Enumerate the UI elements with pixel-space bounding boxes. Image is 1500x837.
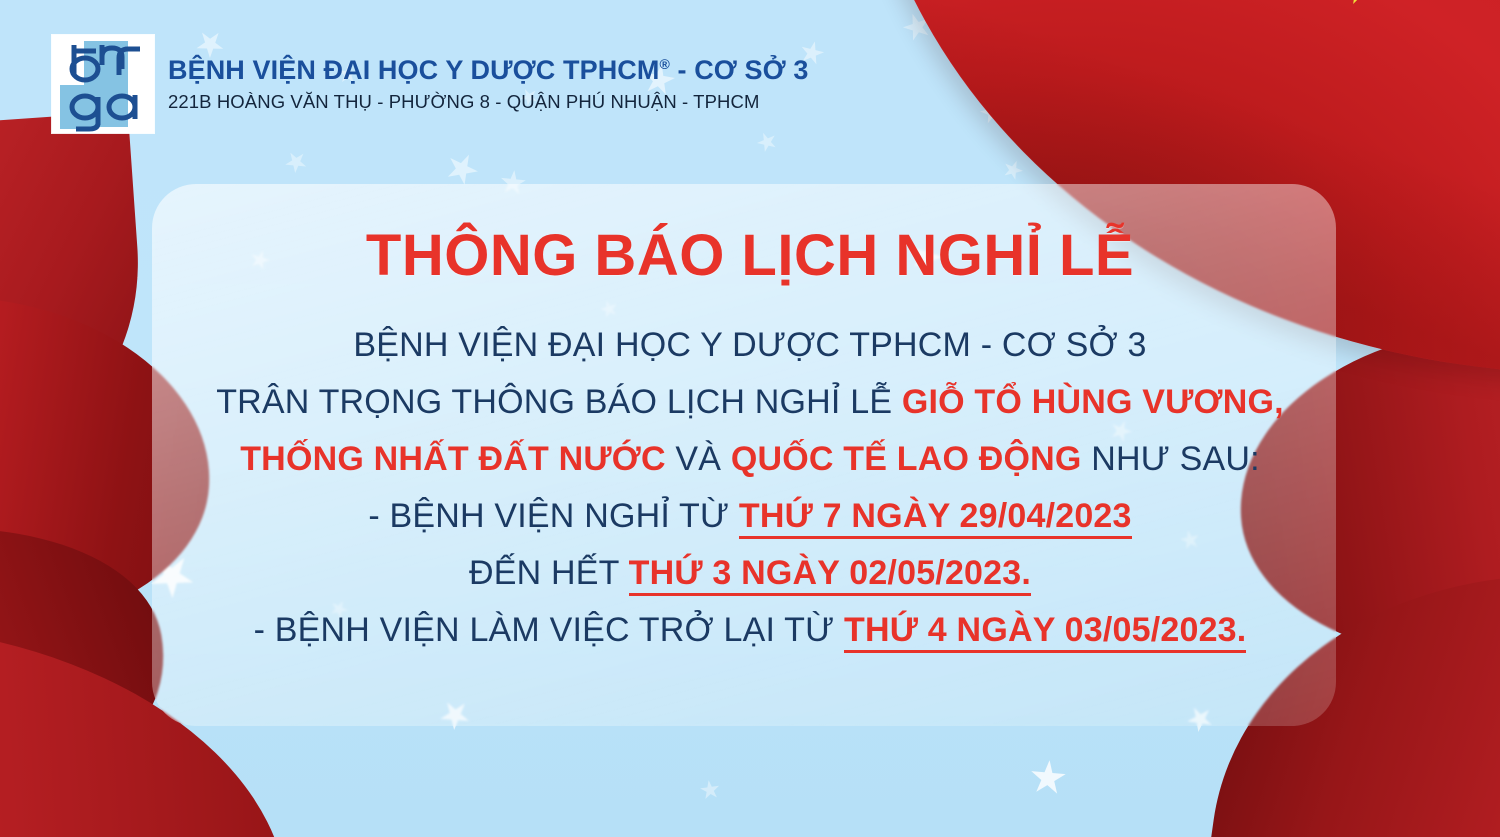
notice-line-3-plain-b: NHƯ SAU:: [1082, 440, 1260, 478]
notice-line-4: - BỆNH VIỆN NGHỈ TỪ THỨ 7 NGÀY 29/04/202…: [0, 488, 1500, 545]
poster-canvas: BỆNH VIỆN ĐẠI HỌC Y DƯỢC TPHCM® - CƠ SỞ …: [0, 0, 1500, 837]
notice-line-6: - BỆNH VIỆN LÀM VIỆC TRỞ LẠI TỪ THỨ 4 NG…: [0, 602, 1500, 659]
notice-line-4-plain: - BỆNH VIỆN NGHỈ TỪ: [368, 497, 739, 535]
notice-line-2: TRÂN TRỌNG THÔNG BÁO LỊCH NGHỈ LỄ GIỖ TỔ…: [0, 374, 1500, 431]
white-star-icon: [699, 779, 722, 802]
notice-line-5-date: THỨ 3 NGÀY 02/05/2023.: [629, 554, 1031, 596]
notice-line-2-highlight: GIỖ TỔ HÙNG VƯƠNG,: [902, 383, 1284, 421]
notice-line-6-date: THỨ 4 NGÀY 03/05/2023.: [844, 611, 1246, 653]
white-star-icon: [1028, 758, 1067, 797]
notice-line-6-plain: - BỆNH VIỆN LÀM VIỆC TRỞ LẠI TỪ: [254, 611, 844, 649]
notice-line-3-highlight-a: THỐNG NHẤT ĐẤT NƯỚC: [240, 440, 666, 478]
notice-lines: BỆNH VIỆN ĐẠI HỌC Y DƯỢC TPHCM - CƠ SỞ 3…: [0, 317, 1500, 660]
notice-line-3-highlight-b: QUỐC TẾ LAO ĐỘNG: [731, 440, 1082, 478]
notice-body: THÔNG BÁO LỊCH NGHỈ LỄ BỆNH VIỆN ĐẠI HỌC…: [0, 196, 1500, 660]
org-name: BỆNH VIỆN ĐẠI HỌC Y DƯỢC TPHCM® - CƠ SỞ …: [168, 55, 809, 85]
header: BỆNH VIỆN ĐẠI HỌC Y DƯỢC TPHCM® - CƠ SỞ …: [0, 0, 1500, 168]
org-address: 221B HOÀNG VĂN THỤ - PHƯỜNG 8 - QUẬN PHÚ…: [168, 91, 809, 113]
notice-line-1: BỆNH VIỆN ĐẠI HỌC Y DƯỢC TPHCM - CƠ SỞ 3: [0, 317, 1500, 374]
org-identity: BỆNH VIỆN ĐẠI HỌC Y DƯỢC TPHCM® - CƠ SỞ …: [168, 55, 809, 112]
notice-line-1-text: BỆNH VIỆN ĐẠI HỌC Y DƯỢC TPHCM - CƠ SỞ 3: [353, 326, 1146, 364]
hospital-logo-icon: [52, 35, 154, 133]
logo-monogram-strokes: [52, 35, 154, 133]
org-name-branch: - CƠ SỞ 3: [670, 55, 809, 85]
notice-line-3-plain-a: VÀ: [666, 440, 731, 478]
notice-line-2-plain: TRÂN TRỌNG THÔNG BÁO LỊCH NGHỈ LỄ: [216, 383, 902, 421]
org-name-text: BỆNH VIỆN ĐẠI HỌC Y DƯỢC TPHCM: [168, 55, 659, 85]
notice-line-3: THỐNG NHẤT ĐẤT NƯỚC VÀ QUỐC TẾ LAO ĐỘNG …: [0, 431, 1500, 488]
notice-line-5-plain: ĐẾN HẾT: [469, 554, 629, 592]
notice-line-4-date: THỨ 7 NGÀY 29/04/2023: [739, 497, 1132, 539]
notice-line-5: ĐẾN HẾT THỨ 3 NGÀY 02/05/2023.: [0, 545, 1500, 602]
registered-mark: ®: [659, 56, 669, 72]
notice-title: THÔNG BÁO LỊCH NGHỈ LỄ: [0, 226, 1500, 287]
